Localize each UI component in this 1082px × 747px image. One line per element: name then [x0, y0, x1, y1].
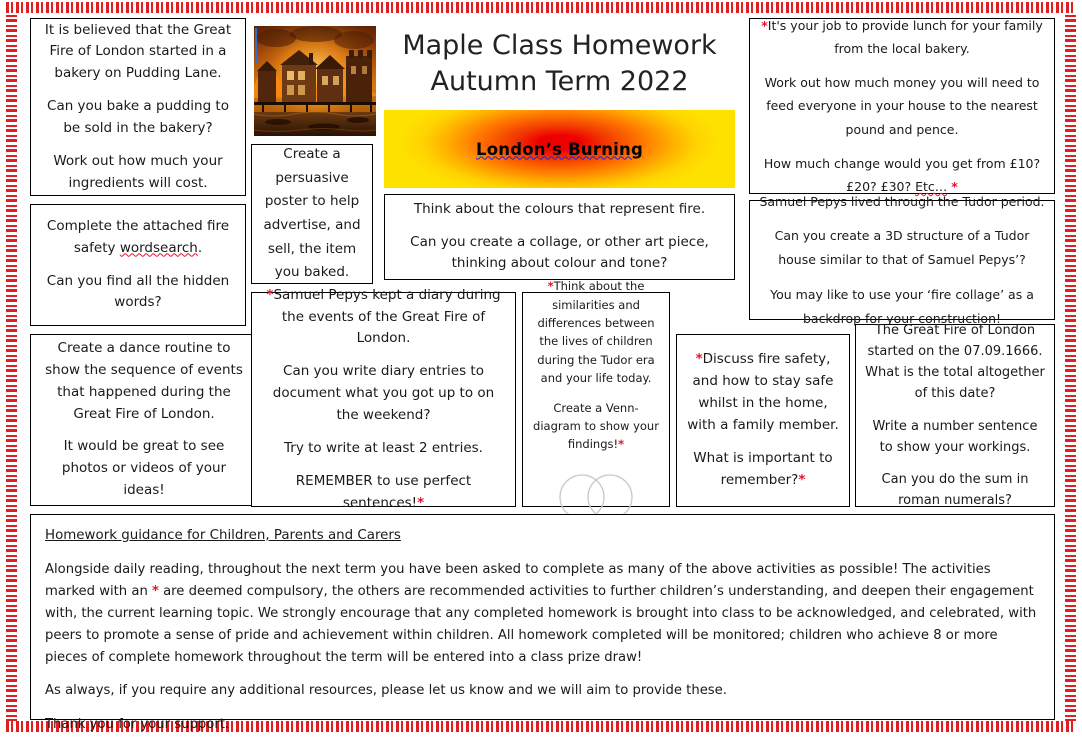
task-box-tudor-house: Samuel Pepys lived through the Tudor per… [749, 200, 1055, 320]
wordsearch-paragraph-1: Complete the attached fire safety wordse… [40, 216, 236, 260]
text-cursor [255, 28, 257, 64]
guidance-heading: Homework guidance for Children, Parents … [45, 525, 1040, 548]
wordsearch-misspelled-word: wordsearch [120, 240, 198, 256]
guidance-star-icon: * [152, 584, 159, 599]
diary-star-icon-end: * [417, 495, 424, 511]
safety-star-icon: * [696, 351, 703, 367]
venn-paragraph-2: Create a Venn-diagram to show your findi… [532, 399, 660, 454]
venn-star-icon-end: * [618, 437, 624, 451]
wordsearch-paragraph-2: Can you find all the hidden words? [40, 271, 236, 315]
diary-text-4: REMEMBER to use perfect sentences! [296, 473, 471, 511]
venn-paragraph-1: *Think about the similarities and differ… [532, 277, 660, 387]
safety-star-icon-end: * [798, 472, 805, 488]
tudor-paragraph-2: Can you create a 3D structure of a Tudor… [759, 224, 1045, 272]
dance-paragraph-1: Create a dance routine to show the seque… [40, 338, 248, 425]
diary-paragraph-4: REMEMBER to use perfect sentences!* [261, 471, 506, 515]
art-paragraph-1: Think about the colours that represent f… [394, 199, 725, 221]
bakery-paragraph-2: Can you bake a pudding to be sold in the… [40, 96, 236, 140]
title-line-1: Maple Class Homework [402, 28, 716, 64]
bakery-paragraph-3: Work out how much your ingredients will … [40, 151, 236, 195]
wordsearch-text-b: . [198, 240, 202, 256]
task-box-art: Think about the colours that represent f… [384, 194, 735, 280]
task-box-venn: *Think about the similarities and differ… [522, 292, 670, 507]
diary-paragraph-1: *Samuel Pepys kept a diary during the ev… [261, 285, 506, 351]
task-box-poster: Create a persuasive poster to help adver… [251, 144, 373, 284]
task-box-bakery: It is believed that the Great Fire of Lo… [30, 18, 246, 196]
guidance-paragraph-2: As always, if you require any additional… [45, 680, 1040, 702]
lunch-paragraph-2: Work out how much money you will need to… [759, 71, 1045, 140]
task-box-fire-safety: *Discuss fire safety, and how to stay sa… [676, 334, 850, 507]
guidance-paragraph-3: Thank you for your support. [45, 714, 1040, 736]
venn-text-2: Create a Venn-diagram to show your findi… [533, 401, 659, 452]
safety-text-1: Discuss fire safety, and how to stay saf… [687, 351, 839, 433]
page-content-area: Maple Class Homework Autumn Term 2022 Lo… [22, 14, 1062, 722]
bakery-paragraph-1: It is believed that the Great Fire of Lo… [40, 20, 236, 86]
task-box-lunch: *It's your job to provide lunch for your… [749, 18, 1055, 194]
task-box-diary: *Samuel Pepys kept a diary during the ev… [251, 292, 516, 507]
safety-paragraph-1: *Discuss fire safety, and how to stay sa… [686, 349, 840, 436]
art-paragraph-2: Can you create a collage, or other art p… [394, 232, 725, 276]
tudor-paragraph-1: Samuel Pepys lived through the Tudor per… [759, 190, 1045, 214]
title-line-2: Autumn Term 2022 [430, 64, 688, 100]
safety-paragraph-2: What is important to remember?* [686, 448, 840, 492]
document-page: Maple Class Homework Autumn Term 2022 Lo… [6, 2, 1076, 732]
venn-text-1: Think about the similarities and differe… [537, 279, 654, 385]
great-fire-illustration-image [254, 26, 376, 136]
diary-paragraph-2: Can you write diary entries to document … [261, 361, 506, 427]
poster-paragraph-1: Create a persuasive poster to help adver… [261, 143, 363, 285]
lunch-text-1: It's your job to provide lunch for your … [768, 18, 1043, 56]
page-title: Maple Class Homework Autumn Term 2022 [384, 20, 735, 108]
task-box-dance: Create a dance routine to show the seque… [30, 334, 258, 506]
guidance-paragraph-1: Alongside daily reading, throughout the … [45, 559, 1040, 670]
guidance-text-1b: are deemed compulsory, the others are re… [45, 584, 1036, 666]
task-box-wordsearch: Complete the attached fire safety wordse… [30, 204, 246, 326]
safety-text-2: What is important to remember? [693, 450, 832, 488]
date-paragraph-1: The Great Fire of London started on the … [865, 320, 1045, 404]
date-paragraph-3: Can you do the sum in roman numerals? [865, 469, 1045, 511]
topic-banner-label: London’s Burning [476, 140, 643, 159]
task-box-date-maths: The Great Fire of London started on the … [855, 324, 1055, 507]
guidance-panel: Homework guidance for Children, Parents … [30, 514, 1055, 720]
dance-paragraph-2: It would be great to see photos or video… [40, 436, 248, 502]
diary-text-1: Samuel Pepys kept a diary during the eve… [273, 287, 500, 347]
lunch-text-3: How much change would you get from £10? … [764, 156, 1040, 194]
diary-paragraph-3: Try to write at least 2 entries. [261, 438, 506, 460]
lunch-paragraph-1: *It's your job to provide lunch for your… [759, 14, 1045, 60]
date-paragraph-2: Write a number sentence to show your wor… [865, 416, 1045, 458]
topic-banner: London’s Burning [384, 110, 735, 188]
